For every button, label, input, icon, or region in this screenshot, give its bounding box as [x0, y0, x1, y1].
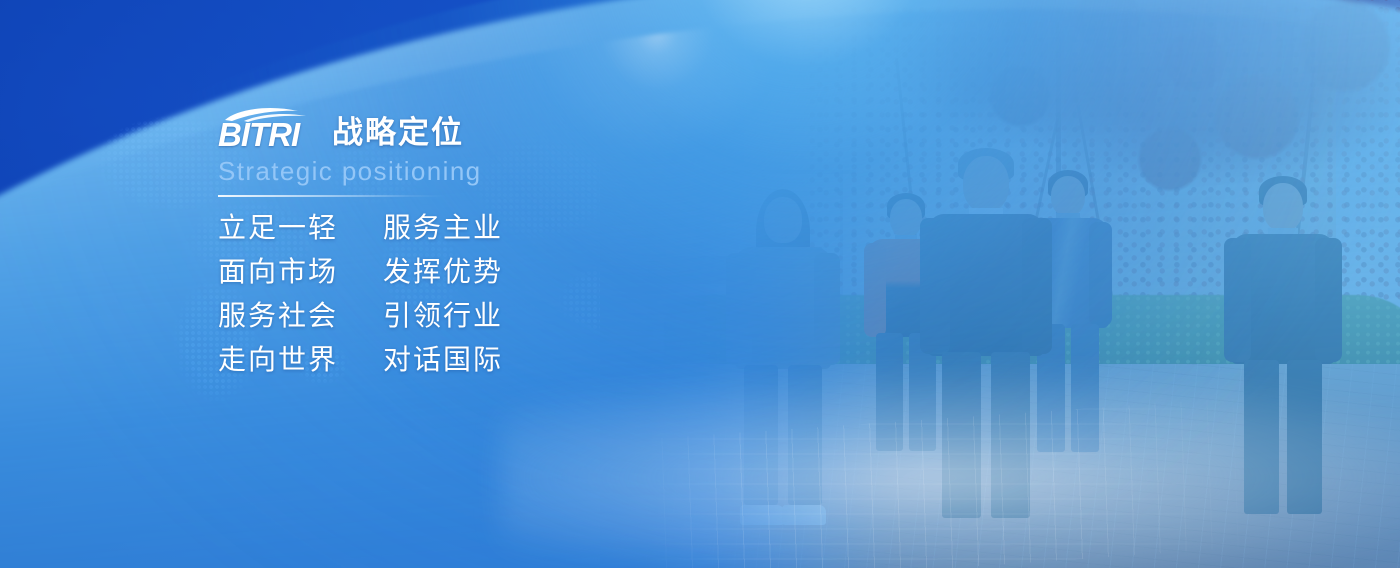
- arc-highlight-glow: [500, 348, 1400, 568]
- slogan-left: 服务社会: [218, 302, 358, 330]
- slogan-row: 面向市场 发挥优势: [218, 258, 778, 286]
- banner-content: BITRI 战略定位 Strategic positioning 立足一轻 服务…: [218, 104, 778, 374]
- slogan-row: 立足一轻 服务主业: [218, 214, 778, 242]
- bitri-logo: BITRI: [218, 106, 318, 150]
- brand-row: BITRI 战略定位: [218, 104, 778, 150]
- bitri-logo-text: BITRI: [218, 118, 299, 151]
- slogan-right: 服务主业: [383, 214, 503, 242]
- slogan-right: 对话国际: [383, 346, 503, 374]
- slogan-right: 引领行业: [383, 302, 503, 330]
- banner-title-cn: 战略定位: [332, 117, 464, 150]
- slogan-row: 服务社会 引领行业: [218, 302, 778, 330]
- slogan-list: 立足一轻 服务主业 面向市场 发挥优势 服务社会 引领行业 走向世界 对话国际: [218, 214, 778, 374]
- slogan-left: 面向市场: [218, 258, 358, 286]
- title-divider: [218, 195, 444, 197]
- strategic-positioning-banner: BITRI 战略定位 Strategic positioning 立足一轻 服务…: [0, 0, 1400, 568]
- slogan-row: 走向世界 对话国际: [218, 346, 778, 374]
- slogan-right: 发挥优势: [383, 258, 503, 286]
- slogan-left: 立足一轻: [218, 214, 358, 242]
- banner-subtitle-en: Strategic positioning: [218, 157, 778, 187]
- slogan-left: 走向世界: [218, 346, 358, 374]
